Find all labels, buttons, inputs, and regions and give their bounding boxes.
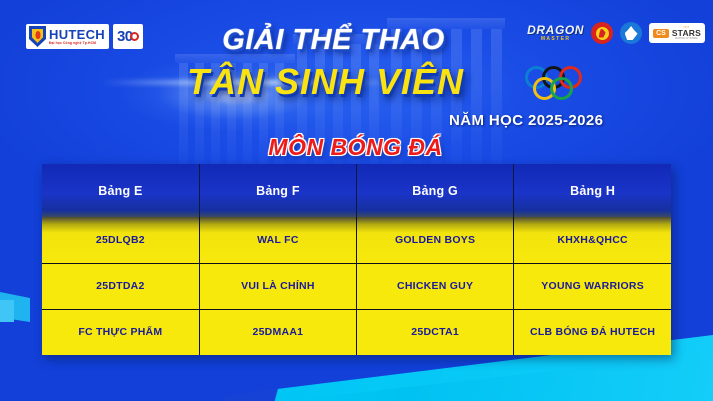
table-cell: WAL FC [199, 217, 356, 263]
table-cell: KHXH&QHCC [514, 217, 671, 263]
table-cell: YOUNG WARRIORS [514, 263, 671, 309]
column-header-group-f: Bảng F [199, 164, 356, 217]
table-header-row: Bảng E Bảng F Bảng G Bảng H [42, 164, 671, 217]
groups-table: Bảng E Bảng F Bảng G Bảng H 25DLQB2 WAL … [42, 164, 671, 355]
cyan-accent-wedge-inner [0, 300, 14, 322]
sport-subtitle: MÔN BÓNG ĐÁ [0, 134, 712, 161]
groups-table-body: 25DLQB2 WAL FC GOLDEN BOYS KHXH&QHCC 25D… [42, 217, 671, 355]
table-cell: 25DMAA1 [199, 309, 356, 355]
table-cell: VUI LÀ CHÍNH [199, 263, 356, 309]
table-cell: 25DTDA2 [42, 263, 199, 309]
table-cell: 25DLQB2 [42, 217, 199, 263]
school-year-label: NĂM HỌC 2025-2026 [449, 112, 603, 129]
column-header-group-h: Bảng H [514, 164, 671, 217]
groups-table-container: Bảng E Bảng F Bảng G Bảng H 25DLQB2 WAL … [42, 164, 671, 355]
column-header-group-e: Bảng E [42, 164, 199, 217]
groups-table-head: Bảng E Bảng F Bảng G Bảng H [42, 164, 671, 217]
table-cell: CHICKEN GUY [357, 263, 514, 309]
table-cell: CLB BÓNG ĐÁ HUTECH [514, 309, 671, 355]
column-header-group-g: Bảng G [357, 164, 514, 217]
table-row: FC THỰC PHẨM 25DMAA1 25DCTA1 CLB BÓNG ĐÁ… [42, 309, 671, 355]
title-line-1: GIẢI THỂ THAO [0, 24, 690, 57]
table-cell: GOLDEN BOYS [357, 217, 514, 263]
olympic-rings-icon [525, 66, 603, 108]
table-cell: 25DCTA1 [357, 309, 514, 355]
table-cell: FC THỰC PHẨM [42, 309, 199, 355]
table-row: 25DTDA2 VUI LÀ CHÍNH CHICKEN GUY YOUNG W… [42, 263, 671, 309]
table-row: 25DLQB2 WAL FC GOLDEN BOYS KHXH&QHCC [42, 217, 671, 263]
